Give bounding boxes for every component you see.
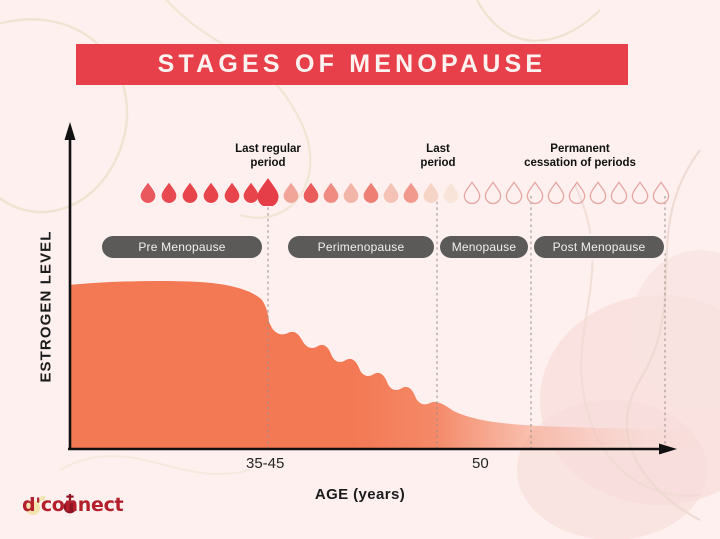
x-tick-label-50: 50: [472, 455, 489, 472]
droplet-outline-icon: [485, 182, 500, 203]
droplet-icon-highlight: [257, 178, 278, 206]
droplet-icon: [304, 183, 319, 203]
droplet-outline-icon: [653, 182, 668, 203]
droplet-icon: [162, 183, 177, 203]
droplet-icon: [183, 183, 198, 203]
stage-pill-post-menopause[interactable]: Post Menopause: [534, 236, 664, 258]
droplet-icon: [364, 183, 379, 203]
droplet-outline-icon: [611, 182, 626, 203]
droplet-icon: [424, 183, 439, 203]
infographic-canvas: STAGES OF MENOPAUSE: [0, 0, 720, 539]
annotation-permanent-cessation: Permanent cessation of periods: [498, 142, 662, 171]
droplet-icon: [141, 183, 156, 203]
droplet-outline-icon: [548, 182, 563, 203]
stage-pill-menopause[interactable]: Menopause: [440, 236, 528, 258]
droplets-outline: [464, 182, 668, 203]
estrogen-area-curve: [70, 281, 700, 449]
droplet-outline-icon: [527, 182, 542, 203]
stage-pill-pre-menopause[interactable]: Pre Menopause: [102, 236, 262, 258]
droplet-icon: [384, 183, 399, 203]
droplet-outline-icon: [506, 182, 521, 203]
droplet-icon: [225, 183, 240, 203]
y-axis-arrowhead: [65, 122, 76, 140]
droplet-icon: [284, 183, 299, 203]
droplet-outline-icon: [632, 182, 647, 203]
brand-logo[interactable]: d'connect: [22, 492, 146, 518]
droplet-icon: [404, 183, 419, 203]
annotation-last-regular-period: Last regular period: [198, 142, 338, 171]
x-tick-label-35-45: 35-45: [246, 455, 284, 472]
droplet-outline-icon: [464, 182, 479, 203]
droplet-icon: [324, 183, 339, 203]
droplet-icon: [204, 183, 219, 203]
droplets-solid: [141, 178, 459, 206]
annotation-last-period: Last period: [400, 142, 476, 171]
stage-pill-perimenopause[interactable]: Perimenopause: [288, 236, 434, 258]
y-axis-label: ESTROGEN LEVEL: [38, 222, 55, 392]
logo-text: d'connect: [22, 494, 123, 516]
droplet-outline-icon: [569, 182, 584, 203]
droplet-icon: [244, 183, 259, 203]
chart-plot: [0, 0, 720, 539]
droplet-icon: [444, 183, 459, 203]
droplet-outline-icon: [590, 182, 605, 203]
period-droplet-row: [0, 176, 720, 206]
x-axis-label: AGE (years): [230, 486, 490, 503]
droplet-icon: [344, 183, 359, 203]
